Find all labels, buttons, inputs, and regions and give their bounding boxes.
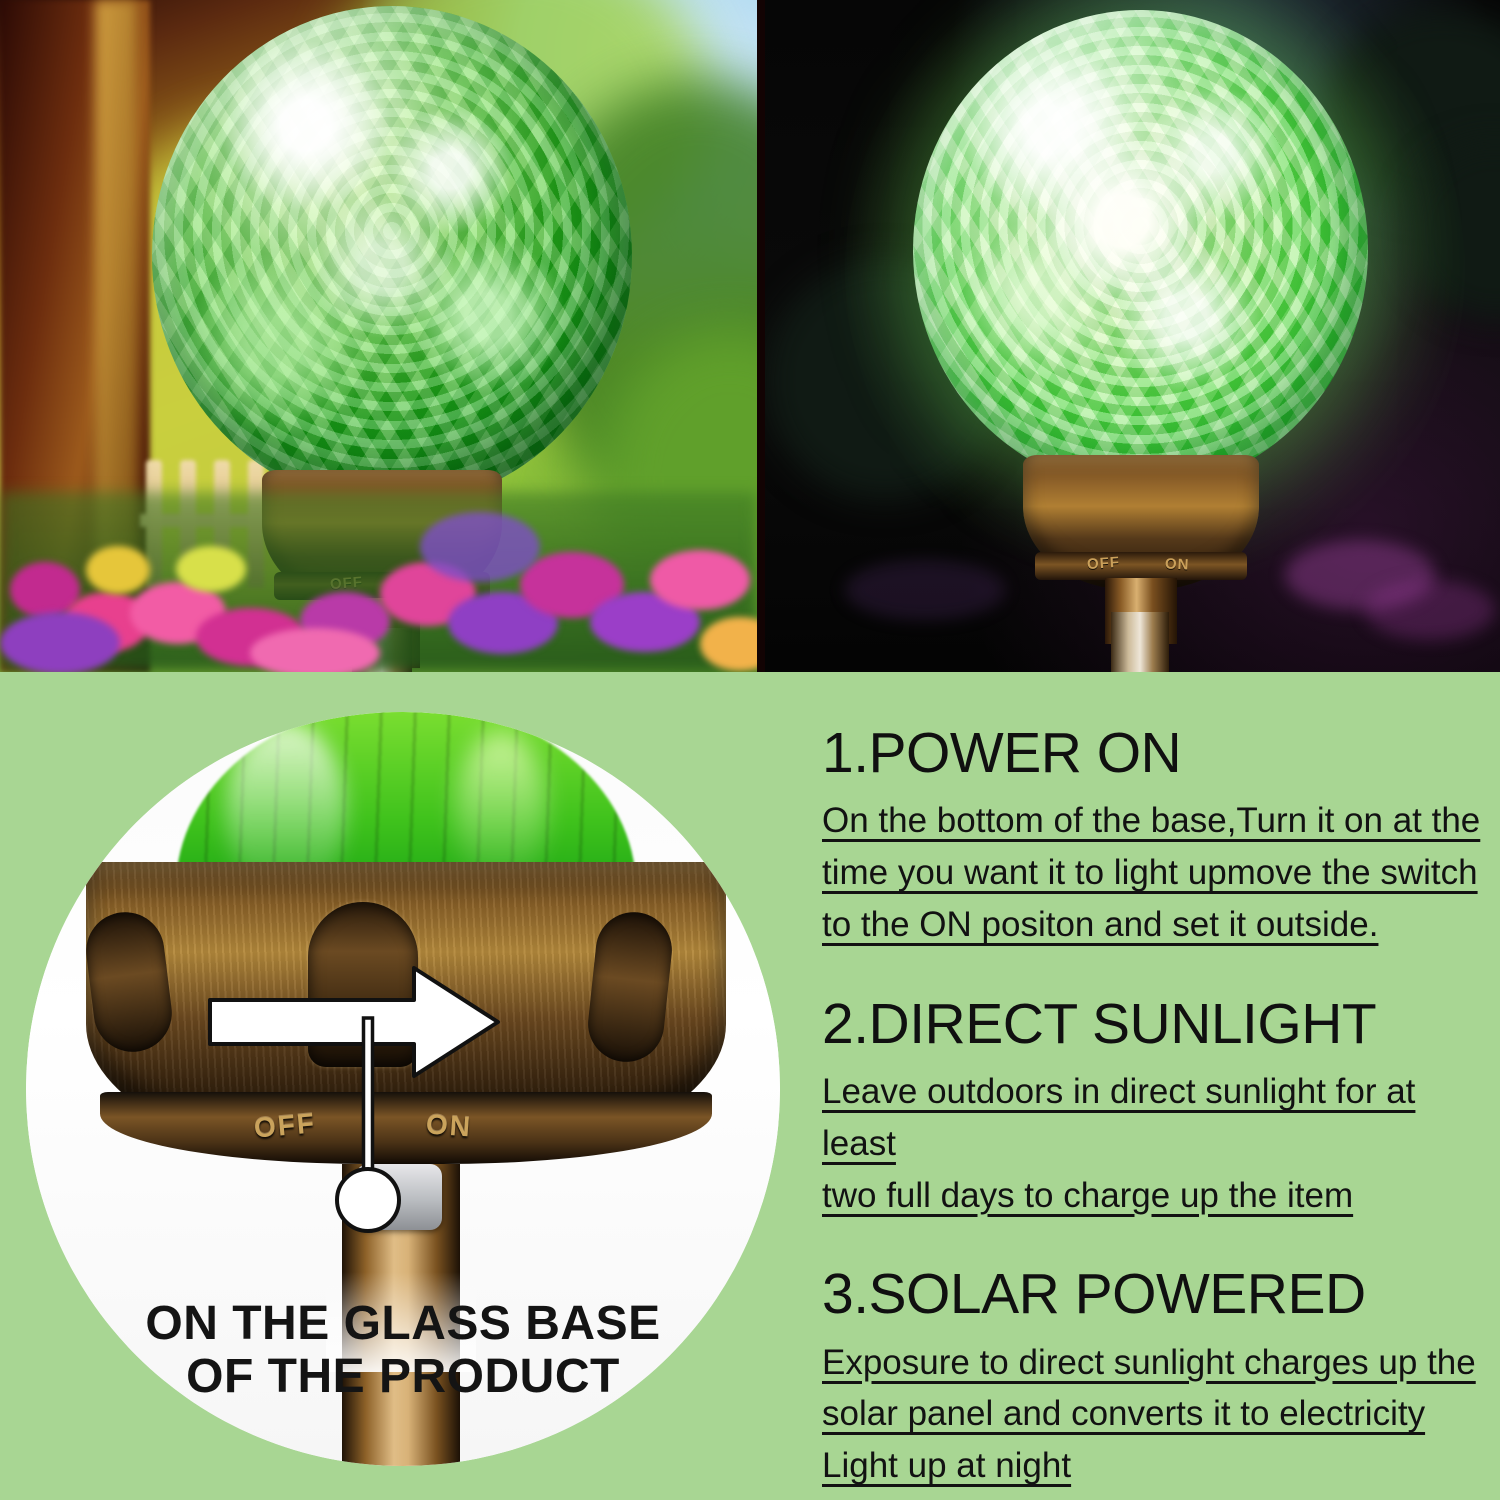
instruction-steps: 1.POWER ON On the bottom of the base,Tur… xyxy=(822,724,1482,1492)
step-title: 3.SOLAR POWERED xyxy=(822,1265,1482,1324)
flower-bed xyxy=(0,442,757,672)
product-photo-nighttime: OFF ON xyxy=(765,0,1500,672)
step-body-line: Light up at night xyxy=(822,1446,1071,1485)
product-photo-row: OFF ON xyxy=(0,0,1500,672)
step-direct-sunlight: 2.DIRECT SUNLIGHT Leave outdoors in dire… xyxy=(822,995,1482,1222)
arrow-right-icon xyxy=(210,968,498,1076)
step-title: 1.POWER ON xyxy=(822,724,1482,783)
step-body-line: Exposure to direct sunlight charges up t… xyxy=(822,1343,1476,1382)
globe-gloss xyxy=(152,6,632,506)
flower-cluster xyxy=(0,612,120,672)
infographic-page: OFF ON xyxy=(0,0,1500,1500)
base-on-label: ON xyxy=(1165,555,1190,573)
step-body-line: to the ON positon and set it outside. xyxy=(822,905,1378,944)
step-body-line: two full days to charge up the item xyxy=(822,1176,1353,1215)
photo-divider xyxy=(757,0,765,672)
detail-caption-line-2: OF THE PRODUCT xyxy=(26,1350,780,1404)
product-photo-daytime: OFF ON xyxy=(0,0,757,672)
step-solar-powered: 3.SOLAR POWERED Exposure to direct sunli… xyxy=(822,1265,1482,1492)
instructions-panel: OFF ON ON THE GLASS BASE O xyxy=(0,672,1500,1500)
step-power-on: 1.POWER ON On the bottom of the base,Tur… xyxy=(822,724,1482,951)
step-title: 2.DIRECT SUNLIGHT xyxy=(822,995,1482,1054)
step-body-line: On the bottom of the base,Turn it on at … xyxy=(822,801,1480,840)
base-lip xyxy=(1035,552,1247,580)
flower-cluster xyxy=(420,512,540,582)
flower-cluster xyxy=(650,550,750,610)
detail-caption-line-1: ON THE GLASS BASE xyxy=(26,1297,780,1351)
step-body: Exposure to direct sunlight charges up t… xyxy=(822,1337,1482,1492)
switch-target-marker xyxy=(337,1169,399,1231)
arrow-annotation xyxy=(206,892,636,1242)
switch-detail-photo: OFF ON ON THE GLASS BASE O xyxy=(26,712,780,1466)
night-flower-cluster xyxy=(845,560,1005,620)
flower-cluster xyxy=(250,628,380,672)
globe-gloss xyxy=(913,10,1368,490)
detail-caption: ON THE GLASS BASE OF THE PRODUCT xyxy=(26,1297,780,1405)
step-body-line: time you want it to light upmove the swi… xyxy=(822,853,1478,892)
night-flower-cluster xyxy=(1365,580,1495,640)
step-body: Leave outdoors in direct sunlight for at… xyxy=(822,1066,1482,1221)
step-body-line: Leave outdoors in direct sunlight for at… xyxy=(822,1072,1415,1163)
step-body: On the bottom of the base,Turn it on at … xyxy=(822,795,1482,950)
flower-cluster xyxy=(86,546,150,594)
flower-cluster xyxy=(176,546,246,592)
step-body-line: solar panel and converts it to electrici… xyxy=(822,1394,1425,1433)
base-off-label: OFF xyxy=(1086,554,1120,573)
stake-rod xyxy=(1111,612,1169,672)
